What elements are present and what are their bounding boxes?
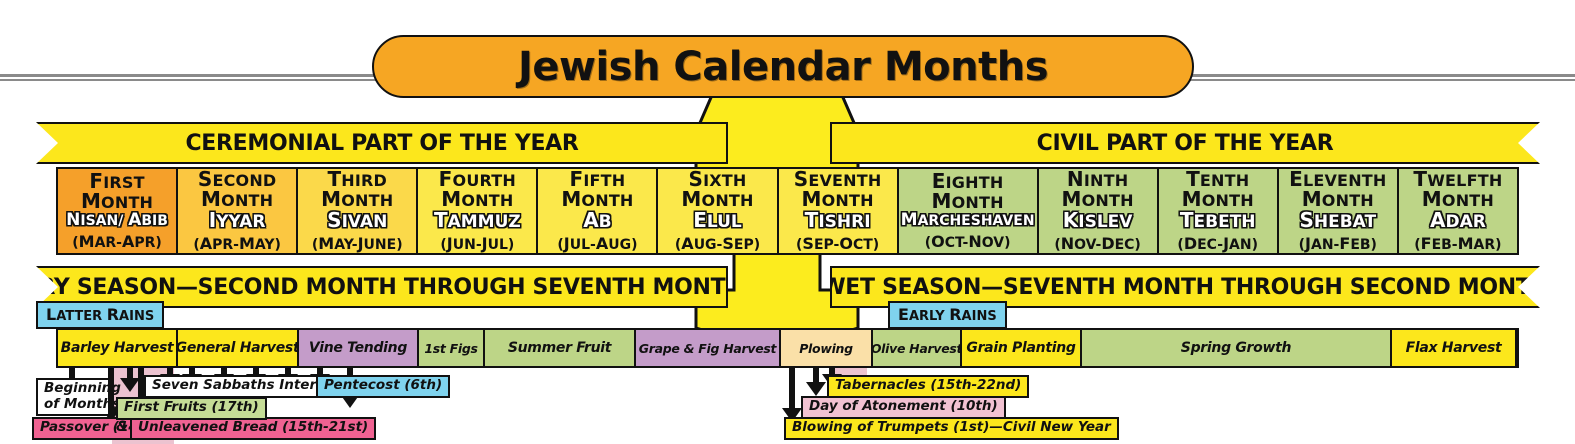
activity-label: Plowing bbox=[799, 341, 853, 356]
month-ordinal: FIFTH bbox=[569, 169, 625, 189]
latter-rains-tag: LATTER RAINS bbox=[36, 301, 164, 329]
activity-label: Barley Harvest bbox=[61, 340, 174, 356]
activity-cell-grape-fig-harvest[interactable]: Grape & Fig Harvest bbox=[636, 330, 781, 366]
callout-blowing-of-trumpets: Blowing of Trumpets (1st)—Civil New Year bbox=[784, 417, 1119, 440]
month-ordinal: EIGHTH bbox=[932, 171, 1004, 191]
banner-ceremonial-part: CEREMONIAL PART OF THE YEAR bbox=[36, 122, 728, 164]
activity-label: General Harvest bbox=[176, 340, 300, 356]
month-gregorian-range: (FEB-MAR) bbox=[1414, 234, 1501, 253]
month-word: MONTH bbox=[1422, 189, 1494, 209]
arrow-shaft bbox=[813, 366, 819, 383]
activity-cell-barley-harvest[interactable]: Barley Harvest bbox=[58, 330, 178, 366]
activity-cell-plowing[interactable]: Plowing bbox=[781, 330, 873, 366]
month-gregorian-range: (APR-MAY) bbox=[193, 234, 281, 253]
month-column-6[interactable]: SIXTHMONTHELUL(AUG-SEP) bbox=[658, 169, 778, 253]
callout-tabernacles: Tabernacles (15th-22nd) bbox=[827, 375, 1029, 398]
month-gregorian-range: (MAY-JUNE) bbox=[312, 234, 403, 253]
callout-ampersand: & bbox=[116, 419, 128, 435]
callout-unleavened-bread: Unleavened Bread (15th-21st) bbox=[130, 417, 376, 440]
month-name: MARCHESHAVEN bbox=[901, 212, 1035, 230]
callout-beginning-of-months-line2: of Months bbox=[44, 397, 102, 413]
callout-first-fruits: First Fruits (17th) bbox=[116, 397, 267, 420]
activity-label: Summer Fruit bbox=[508, 340, 611, 356]
activity-cell-grain-planting[interactable]: Grain Planting bbox=[962, 330, 1082, 366]
callout-pentecost: Pentecost (6th) bbox=[316, 375, 450, 398]
month-gregorian-range: (NOV-DEC) bbox=[1054, 234, 1140, 253]
month-word: MONTH bbox=[1062, 189, 1134, 209]
month-name: IYYAR bbox=[209, 210, 266, 232]
month-word: MONTH bbox=[1302, 189, 1374, 209]
agricultural-activity-band: Barley HarvestGeneral HarvestVine Tendin… bbox=[56, 328, 1519, 368]
month-ordinal: TWELFTH bbox=[1413, 169, 1502, 189]
month-column-2[interactable]: SECONDMONTHIYYAR(APR-MAY) bbox=[178, 169, 298, 253]
banner-civil-label: CIVIL PART OF THE YEAR bbox=[1037, 131, 1334, 156]
month-gregorian-range: (JUL-AUG) bbox=[557, 234, 637, 253]
activity-cell-summer-fruit[interactable]: Summer Fruit bbox=[485, 330, 636, 366]
callout-beginning-of-months: Beginning of Months bbox=[36, 378, 110, 416]
activity-label: Flax Harvest bbox=[1406, 340, 1502, 356]
month-ordinal: FOURTH bbox=[439, 169, 516, 189]
month-name: SIVAN bbox=[327, 210, 387, 232]
activity-label: Spring Growth bbox=[1181, 340, 1291, 356]
month-ordinal: ELEVENTH bbox=[1289, 169, 1386, 189]
month-word: MONTH bbox=[81, 191, 153, 211]
activity-cell-flax-harvest[interactable]: Flax Harvest bbox=[1392, 330, 1517, 366]
infographic-canvas: CEREMONIAL PART OF THE YEAR CIVIL PART O… bbox=[0, 0, 1575, 444]
month-ordinal: NINTH bbox=[1067, 169, 1128, 189]
month-name: NISAN/ ABIB bbox=[66, 212, 168, 230]
page-title-text: Jewish Calendar Months bbox=[518, 44, 1048, 90]
month-ordinal: THIRD bbox=[327, 169, 387, 189]
activity-cell-spring-growth[interactable]: Spring Growth bbox=[1082, 330, 1392, 366]
month-column-4[interactable]: FOURTHMONTHTAMMUZ(JUN-JUL) bbox=[418, 169, 538, 253]
month-gregorian-range: (SEP-OCT) bbox=[796, 234, 879, 253]
month-column-10[interactable]: TENTHMONTHTEBETH(DEC-JAN) bbox=[1159, 169, 1279, 253]
banner-dry-season-label: DRY SEASON—SECOND MONTH THROUGH SEVENTH … bbox=[21, 275, 744, 300]
month-word: MONTH bbox=[321, 189, 393, 209]
activity-cell-olive-harvest[interactable]: Olive Harvest bbox=[873, 330, 962, 366]
month-column-11[interactable]: ELEVENTHMONTHSHEBAT(JAN-FEB) bbox=[1279, 169, 1399, 253]
month-word: MONTH bbox=[1182, 189, 1254, 209]
callout-beginning-of-months-line1: Beginning bbox=[44, 381, 102, 397]
month-word: MONTH bbox=[441, 189, 513, 209]
month-gregorian-range: (MAR-APR) bbox=[72, 232, 162, 251]
month-word: MONTH bbox=[561, 189, 633, 209]
month-name: ADAR bbox=[1430, 210, 1486, 232]
arrow-shaft bbox=[789, 366, 795, 409]
month-column-7[interactable]: SEVENTHMONTHTISHRI(SEP-OCT) bbox=[779, 169, 899, 253]
activity-cell-general-harvest[interactable]: General Harvest bbox=[178, 330, 299, 366]
month-word: MONTH bbox=[932, 191, 1004, 211]
month-ordinal: SEVENTH bbox=[794, 169, 882, 189]
timeline-arrow bbox=[782, 366, 802, 422]
month-gregorian-range: (AUG-SEP) bbox=[675, 234, 760, 253]
early-rains-tag: EARLY RAINS bbox=[888, 301, 1007, 329]
activity-cell-vine-tending[interactable]: Vine Tending bbox=[299, 330, 419, 366]
month-gregorian-range: (JUN-JUL) bbox=[440, 234, 514, 253]
month-word: MONTH bbox=[681, 189, 753, 209]
banner-wet-season-label: WET SEASON—SEVENTH MONTH THROUGH SECOND … bbox=[821, 275, 1548, 300]
banner-civil-part: CIVIL PART OF THE YEAR bbox=[830, 122, 1540, 164]
month-ordinal: SIXTH bbox=[689, 169, 747, 189]
month-column-3[interactable]: THIRDMONTHSIVAN(MAY-JUNE) bbox=[298, 169, 418, 253]
activity-label: Vine Tending bbox=[309, 340, 407, 356]
month-column-1[interactable]: FIRSTMONTHNISAN/ ABIB(MAR-APR) bbox=[58, 169, 178, 253]
activity-cell-1st-figs[interactable]: 1st Figs bbox=[419, 330, 485, 366]
month-name: KISLEV bbox=[1063, 210, 1133, 232]
month-ordinal: TENTH bbox=[1186, 169, 1249, 189]
month-name: TEBETH bbox=[1180, 210, 1256, 232]
month-column-5[interactable]: FIFTHMONTHAB(JUL-AUG) bbox=[538, 169, 658, 253]
month-name: TISHRI bbox=[805, 210, 871, 232]
callout-day-of-atonement: Day of Atonement (10th) bbox=[801, 396, 1006, 419]
month-word: MONTH bbox=[802, 189, 874, 209]
month-gregorian-range: (OCT-NOV) bbox=[925, 232, 1011, 251]
month-gregorian-range: (DEC-JAN) bbox=[1177, 234, 1258, 253]
month-column-12[interactable]: TWELFTHMONTHADAR(FEB-MAR) bbox=[1399, 169, 1517, 253]
month-name: SHEBAT bbox=[1299, 210, 1376, 232]
month-columns: FIRSTMONTHNISAN/ ABIB(MAR-APR)SECONDMONT… bbox=[56, 167, 1519, 255]
activity-label: Grape & Fig Harvest bbox=[639, 341, 776, 356]
month-name: AB bbox=[583, 210, 611, 232]
banner-ceremonial-label: CEREMONIAL PART OF THE YEAR bbox=[185, 131, 578, 156]
month-gregorian-range: (JAN-FEB) bbox=[1299, 234, 1377, 253]
month-ordinal: FIRST bbox=[89, 171, 144, 191]
month-word: MONTH bbox=[201, 189, 273, 209]
month-name: TAMMUZ bbox=[434, 210, 521, 232]
month-column-9[interactable]: NINTHMONTHKISLEV(NOV-DEC) bbox=[1039, 169, 1159, 253]
activity-label: 1st Figs bbox=[424, 341, 477, 356]
page-title: Jewish Calendar Months bbox=[372, 35, 1194, 98]
month-ordinal: SECOND bbox=[198, 169, 277, 189]
activity-label: Grain Planting bbox=[966, 340, 1075, 356]
month-name: ELUL bbox=[693, 210, 742, 232]
activity-label: Olive Harvest bbox=[871, 341, 962, 356]
month-column-8[interactable]: EIGHTHMONTHMARCHESHAVEN(OCT-NOV) bbox=[899, 169, 1039, 253]
